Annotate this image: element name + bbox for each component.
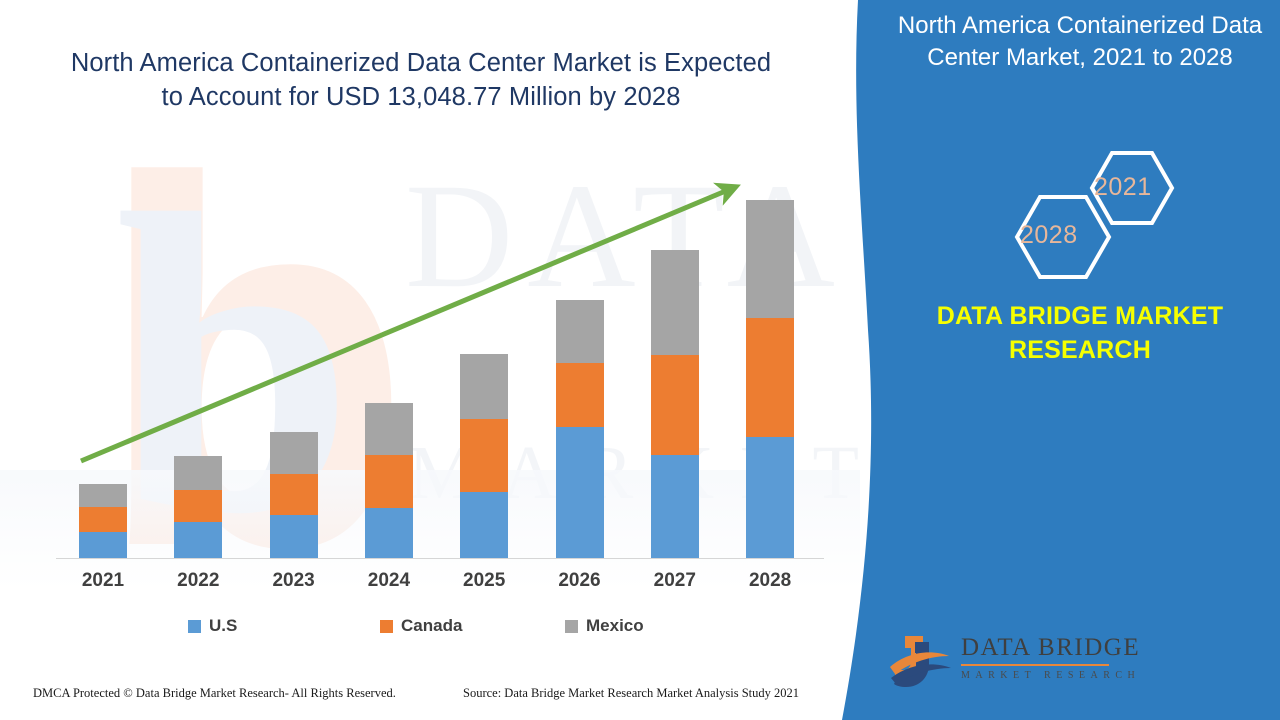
right-panel: North America Containerized Data Center … [880, 0, 1280, 720]
hexagon-label-2028: 2028 [1020, 221, 1078, 250]
hexagon-group: 2021 2028 [880, 140, 1280, 310]
brand-name: DATA BRIDGE MARKET RESEARCH [880, 300, 1280, 368]
data-bridge-logo: DATA BRIDGE MARKET RESEARCH [885, 622, 1145, 694]
panel-title: North America Containerized Data Center … [880, 10, 1280, 75]
brand-line-1: DATA BRIDGE MARKET [937, 302, 1223, 330]
logo-subtitle: MARKET RESEARCH [961, 670, 1140, 681]
brand-line-2: RESEARCH [1009, 336, 1151, 364]
logo-title: DATA BRIDGE [961, 634, 1140, 662]
infographic-canvas: b b DATA BRIDGE MARKET RESEARCH North Am… [0, 0, 1280, 720]
hexagon-shapes [880, 140, 1280, 310]
logo-divider [961, 664, 1109, 666]
logo-text-block: DATA BRIDGE MARKET RESEARCH [961, 634, 1140, 681]
hexagon-label-2021: 2021 [1094, 173, 1152, 202]
